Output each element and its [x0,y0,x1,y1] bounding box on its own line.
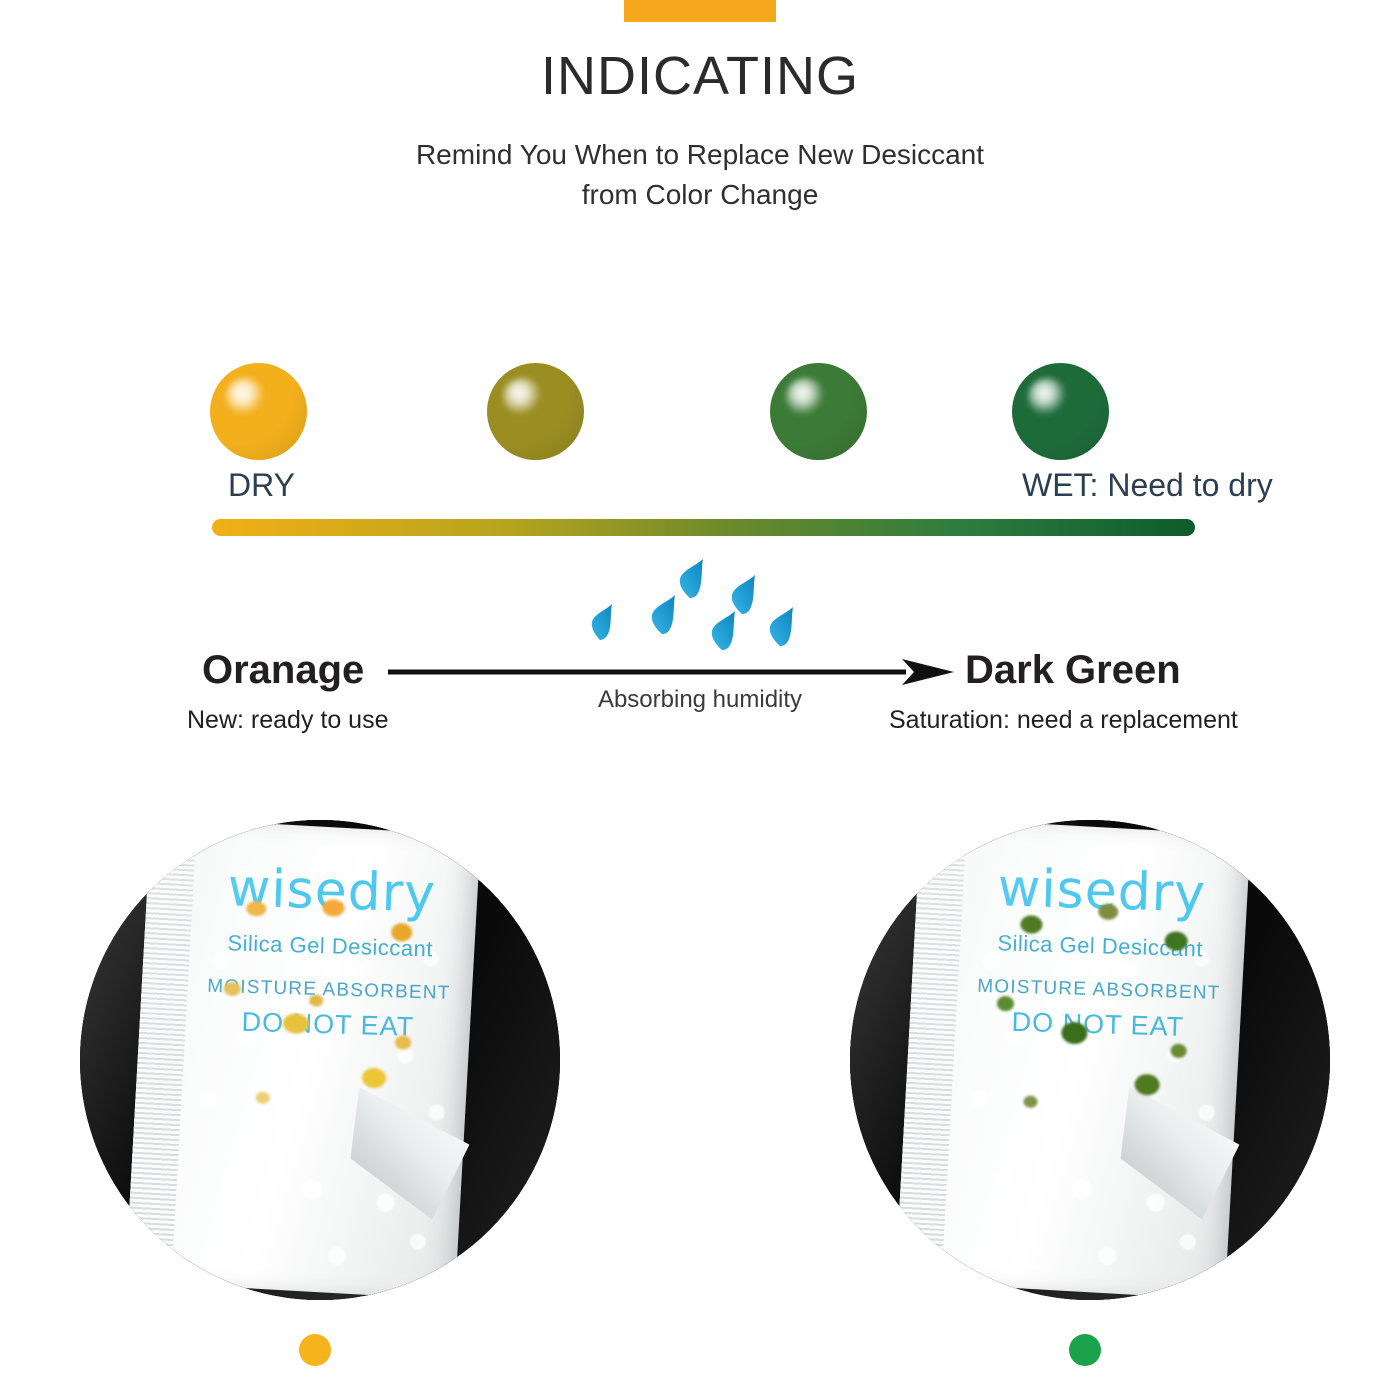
sachet-saturated: wisedry Silica Gel Desiccant MOISTURE AB… [895,820,1250,1300]
indicator-dot-dry [299,1334,331,1366]
droplet-shapes [592,559,793,650]
page-subtitle-line-2: from Color Change [0,175,1400,215]
photo-saturated-packet: wisedry Silica Gel Desiccant MOISTURE AB… [850,820,1330,1300]
top-accent-bar [624,0,776,22]
term-right: Dark Green [965,648,1181,693]
sphere-olive [487,363,584,460]
sphere-highlight [226,378,265,417]
product-name-text: Silica Gel Desiccant [196,929,465,963]
product-name-text: Silica Gel Desiccant [966,929,1235,963]
term-right-caption: Saturation: need a replacement [889,706,1238,735]
sphere-dark-green-wet [1012,363,1109,460]
sphere-highlight [786,378,825,417]
sachet-print-dry: wisedry Silica Gel Desiccant MOISTURE AB… [193,857,466,1044]
indicator-dot-saturated [1069,1334,1101,1366]
humidity-gradient-bar [212,519,1195,536]
photo-dry-packet: wisedry Silica Gel Desiccant MOISTURE AB… [80,820,560,1300]
color-scale-spheres [0,363,1400,463]
sachet-dry: wisedry Silica Gel Desiccant MOISTURE AB… [125,820,480,1300]
sphere-highlight [503,378,542,417]
sphere-green [770,363,867,460]
sphere-orange-dry [210,363,307,460]
page-title: INDICATING [0,48,1400,105]
scale-label-wet: WET: Need to dry [1022,467,1273,504]
droplet-icon [652,595,675,634]
droplet-icon [592,604,612,640]
droplet-icon [770,607,793,646]
droplet-icon [680,559,703,598]
water-droplets-group [570,558,800,668]
page-subtitle: Remind You When to Replace New Desiccant… [0,135,1400,215]
droplet-icon [712,611,735,650]
transition-arrow [386,655,956,689]
sphere-highlight [1028,378,1067,417]
page-subtitle-line-1: Remind You When to Replace New Desiccant [0,135,1400,175]
arrow-head [902,659,954,685]
droplet-icon [732,575,755,614]
scale-label-dry: DRY [228,467,295,504]
sachet-print-saturated: wisedry Silica Gel Desiccant MOISTURE AB… [963,857,1236,1044]
droplets-svg [570,558,800,668]
arrow-svg [386,655,956,689]
